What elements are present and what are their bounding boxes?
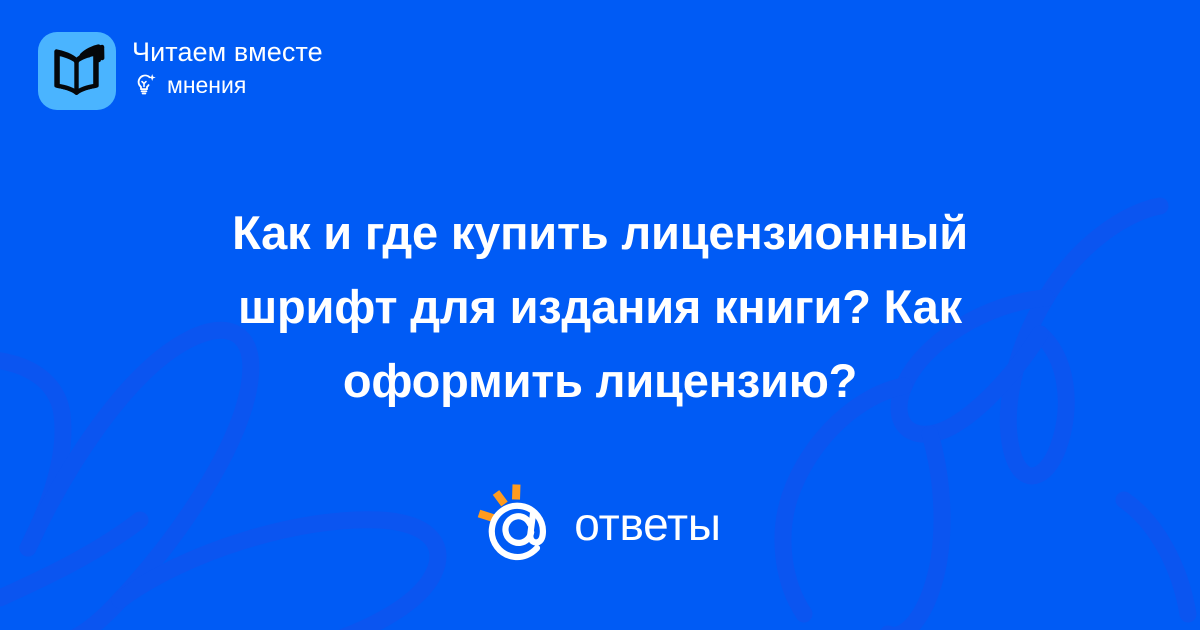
otvety-logo[interactable]: ответы (0, 482, 1200, 566)
page-title: Как и где купить лицензионный шрифт для … (150, 196, 1050, 418)
brand-name: Читаем вместе (132, 36, 323, 68)
headline-block: Как и где купить лицензионный шрифт для … (150, 196, 1050, 418)
open-book-icon (48, 42, 106, 100)
at-sign-rays-icon (475, 482, 563, 566)
avatar[interactable] (38, 32, 116, 110)
brand-badge-label: мнения (167, 72, 246, 98)
otvety-wordmark: ответы (574, 499, 721, 549)
brand-badge: мнения (132, 72, 323, 98)
brand-header[interactable]: Читаем вместе мнения (38, 32, 323, 110)
brand-meta: Читаем вместе мнения (132, 32, 323, 98)
og-share-card: Читаем вместе мнения Как и где купить ли… (0, 0, 1200, 630)
lightbulb-sparkle-icon (132, 72, 158, 98)
